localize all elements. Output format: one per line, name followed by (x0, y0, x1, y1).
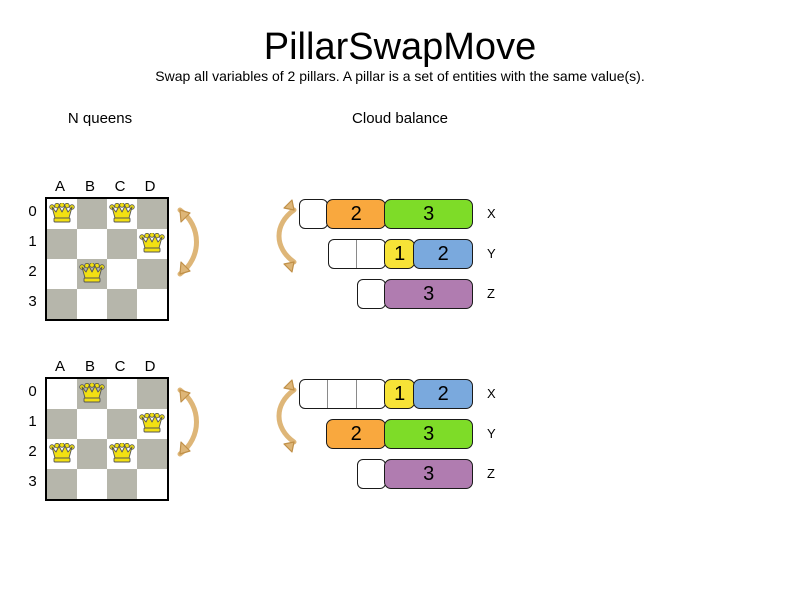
process-value: 3 (423, 463, 434, 486)
computer-bar-y: 23 (328, 419, 473, 449)
board-cell-c2[interactable] (107, 259, 137, 289)
board-row-header-1: 1 (24, 227, 41, 257)
computer-bar-z: 3 (357, 279, 473, 309)
board-cell-d1[interactable] (137, 229, 167, 259)
board-cell-b2[interactable] (77, 439, 107, 469)
board-column-header-d: D (135, 178, 165, 196)
board-cell-c2[interactable] (107, 439, 137, 469)
computer-label-y: Y (487, 239, 496, 269)
process-value: 2 (438, 243, 449, 266)
board-row-header-1: 1 (24, 407, 41, 437)
empty-capacity-slots (357, 279, 386, 309)
board-cell-b3[interactable] (77, 469, 107, 499)
board-column-header-c: C (105, 358, 135, 376)
board-cell-c3[interactable] (107, 289, 137, 319)
board-row-header-0: 0 (24, 377, 41, 407)
page-title: PillarSwapMove (0, 26, 800, 69)
board-cell-b2[interactable] (77, 259, 107, 289)
queen-icon (79, 383, 105, 405)
process-value: 1 (394, 243, 405, 266)
board-cell-c1[interactable] (107, 229, 137, 259)
queen-icon (139, 413, 165, 435)
board-cell-a2[interactable] (47, 259, 77, 289)
board-cell-d2[interactable] (137, 259, 167, 289)
queen-icon (49, 203, 75, 225)
board-cell-a1[interactable] (47, 409, 77, 439)
board-cell-b1[interactable] (77, 229, 107, 259)
board-cell-a1[interactable] (47, 229, 77, 259)
board-cell-d3[interactable] (137, 469, 167, 499)
board-cell-c1[interactable] (107, 409, 137, 439)
board-cell-b1[interactable] (77, 409, 107, 439)
queen-icon (109, 443, 135, 465)
process-block-1[interactable]: 1 (384, 239, 415, 269)
swap-arrow-board-bottom (168, 376, 212, 473)
board-cell-b0[interactable] (77, 199, 107, 229)
computer-label-x: X (487, 199, 496, 229)
computer-bar-y: 12 (328, 239, 473, 269)
page-subtitle: Swap all variables of 2 pillars. A pilla… (0, 68, 800, 84)
section-label-nqueens: N queens (20, 110, 180, 127)
process-block-3[interactable]: 3 (384, 459, 473, 489)
board-column-header-d: D (135, 358, 165, 376)
board-column-header-b: B (75, 178, 105, 196)
process-value: 1 (394, 383, 405, 406)
process-value: 3 (423, 423, 434, 446)
empty-slot (329, 240, 357, 268)
process-block-2[interactable]: 2 (326, 199, 386, 229)
empty-slot (357, 380, 385, 408)
chessboard-before: ABCD0123 (24, 178, 184, 328)
board-column-header-c: C (105, 178, 135, 196)
board-cell-a3[interactable] (47, 289, 77, 319)
board-cell-a0[interactable] (47, 379, 77, 409)
process-value: 3 (423, 283, 434, 306)
board-cell-d2[interactable] (137, 439, 167, 469)
board-column-header-a: A (45, 178, 75, 196)
process-block-1[interactable]: 1 (384, 379, 415, 409)
chessboard-grid (45, 377, 169, 501)
process-value: 3 (423, 203, 434, 226)
computer-label-x: X (487, 379, 496, 409)
empty-capacity-slots (299, 379, 386, 409)
swap-arrow-cloud-bottom (268, 376, 308, 461)
swap-arrow-cloud-top (268, 196, 308, 281)
computer-bar-z: 3 (357, 459, 473, 489)
board-row-header-2: 2 (24, 257, 41, 287)
board-column-header-b: B (75, 358, 105, 376)
empty-slot (358, 460, 385, 488)
computer-bar-x: 23 (299, 199, 473, 229)
chessboard-grid (45, 197, 169, 321)
section-label-cloud: Cloud balance (320, 110, 480, 127)
process-value: 2 (351, 203, 362, 226)
empty-capacity-slots (357, 459, 386, 489)
board-cell-c0[interactable] (107, 199, 137, 229)
process-value: 2 (438, 383, 449, 406)
queen-icon (139, 233, 165, 255)
board-cell-c0[interactable] (107, 379, 137, 409)
empty-slot (328, 380, 356, 408)
process-block-3[interactable]: 3 (384, 419, 473, 449)
board-cell-d0[interactable] (137, 379, 167, 409)
process-block-2[interactable]: 2 (413, 239, 473, 269)
queen-icon (109, 203, 135, 225)
empty-slot (357, 240, 385, 268)
board-cell-b3[interactable] (77, 289, 107, 319)
process-block-2[interactable]: 2 (413, 379, 473, 409)
queen-icon (79, 263, 105, 285)
board-cell-d0[interactable] (137, 199, 167, 229)
chessboard-after: ABCD0123 (24, 358, 184, 508)
empty-capacity-slots (328, 239, 386, 269)
board-cell-d3[interactable] (137, 289, 167, 319)
board-cell-b0[interactable] (77, 379, 107, 409)
swap-arrow-board-top (168, 196, 212, 293)
board-row-header-3: 3 (24, 287, 41, 317)
process-block-2[interactable]: 2 (326, 419, 386, 449)
board-column-header-a: A (45, 358, 75, 376)
queen-icon (49, 443, 75, 465)
process-block-3[interactable]: 3 (384, 199, 473, 229)
process-value: 2 (351, 423, 362, 446)
computer-label-y: Y (487, 419, 496, 449)
computer-label-z: Z (487, 279, 495, 309)
computer-label-z: Z (487, 459, 495, 489)
board-cell-a0[interactable] (47, 199, 77, 229)
board-cell-a2[interactable] (47, 439, 77, 469)
board-cell-c3[interactable] (107, 469, 137, 499)
board-row-header-0: 0 (24, 197, 41, 227)
process-block-3[interactable]: 3 (384, 279, 473, 309)
board-cell-a3[interactable] (47, 469, 77, 499)
board-row-header-3: 3 (24, 467, 41, 497)
empty-slot (358, 280, 385, 308)
board-row-header-2: 2 (24, 437, 41, 467)
board-cell-d1[interactable] (137, 409, 167, 439)
computer-bar-x: 12 (299, 379, 473, 409)
